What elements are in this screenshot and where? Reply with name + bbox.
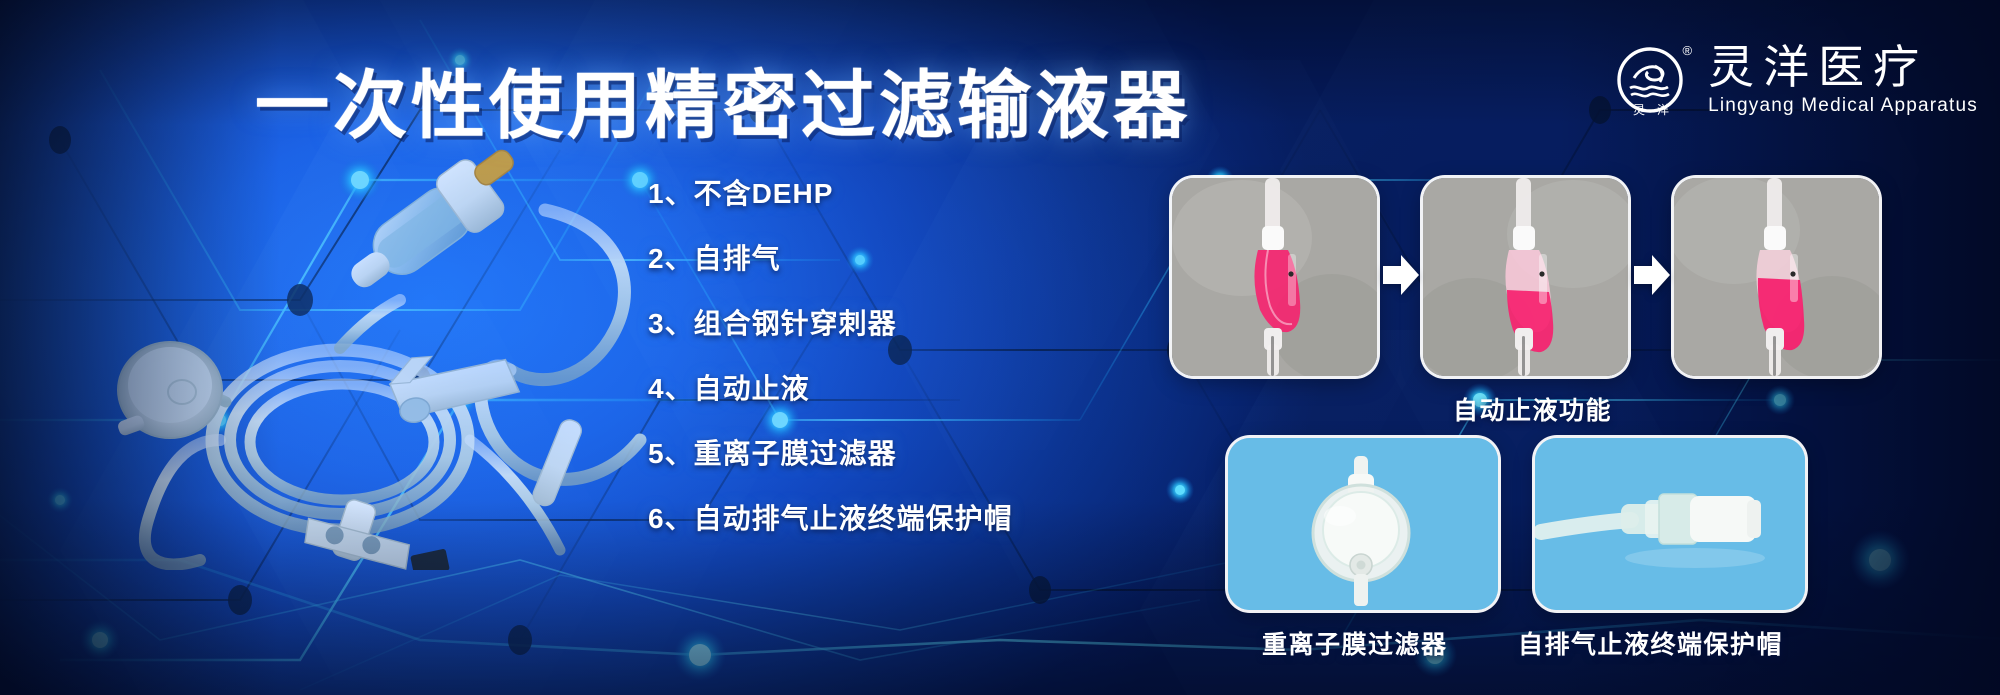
needle-protector (530, 417, 584, 509)
photo-heavy-ion-filter (1228, 438, 1498, 610)
photo-drip-chamber-3 (1674, 178, 1879, 376)
feature-label: 自动止液 (694, 373, 810, 404)
feature-label: 不含DEHP (694, 178, 834, 209)
feature-index: 4、 (648, 373, 694, 404)
feature-index: 1、 (648, 178, 694, 209)
photo-drip-chamber-2 (1423, 178, 1628, 376)
company-logo-icon: 灵 洋 ® (1614, 42, 1690, 118)
feature-item: 3、组合钢针穿刺器 (648, 302, 1013, 342)
right-arrow-icon (1632, 252, 1672, 298)
filter-disc (116, 342, 222, 438)
photo-drip-chamber-1 (1172, 178, 1377, 376)
brand-name-en: Lingyang Medical Apparatus (1708, 95, 1978, 117)
feature-label: 重离子膜过滤器 (694, 438, 897, 469)
roller-clamp (386, 341, 521, 426)
feature-item: 2、自排气 (648, 237, 1013, 277)
feature-item: 4、自动止液 (648, 367, 1013, 407)
svg-text:灵: 灵 (1633, 103, 1645, 117)
product-photo-infusion-set (40, 140, 660, 570)
registered-trademark-icon: ® (1682, 44, 1692, 57)
product-banner: 一次性使用精密过滤输液器 灵 洋 ® 灵洋医疗 Lingyang Medical… (0, 0, 2000, 695)
caption-auto-stop-function: 自动止液功能 (1453, 391, 1612, 427)
feature-item: 6、自动排气止液终端保护帽 (648, 497, 1013, 537)
feature-index: 3、 (648, 308, 694, 339)
brand-names: 灵洋医疗 Lingyang Medical Apparatus (1708, 43, 1978, 118)
caption-auto-vent-end-cap: 自排气止液终端保护帽 (1518, 625, 1783, 661)
feature-label: 自动排气止液终端保护帽 (694, 503, 1013, 534)
feature-item: 1、不含DEHP (648, 172, 1013, 212)
page-title: 一次性使用精密过滤输液器 (255, 46, 1191, 153)
feature-index: 5、 (648, 438, 694, 469)
feature-item: 5、重离子膜过滤器 (648, 432, 1013, 472)
feature-label: 组合钢针穿刺器 (694, 308, 897, 339)
brand-name-cn: 灵洋医疗 (1708, 43, 1928, 93)
caption-heavy-ion-filter: 重离子膜过滤器 (1262, 625, 1448, 661)
feature-list: 1、不含DEHP 2、自排气 3、组合钢针穿刺器 4、自动止液 5、重离子膜过滤… (648, 172, 1013, 537)
svg-text:洋: 洋 (1657, 102, 1669, 117)
feature-label: 自排气 (694, 243, 781, 274)
brand-lockup: 灵 洋 ® 灵洋医疗 Lingyang Medical Apparatus (1614, 42, 1978, 118)
right-arrow-icon (1381, 252, 1421, 298)
feature-index: 6、 (648, 503, 694, 534)
photo-auto-vent-end-cap (1535, 438, 1805, 610)
feature-index: 2、 (648, 243, 694, 274)
tube-label (410, 548, 450, 570)
